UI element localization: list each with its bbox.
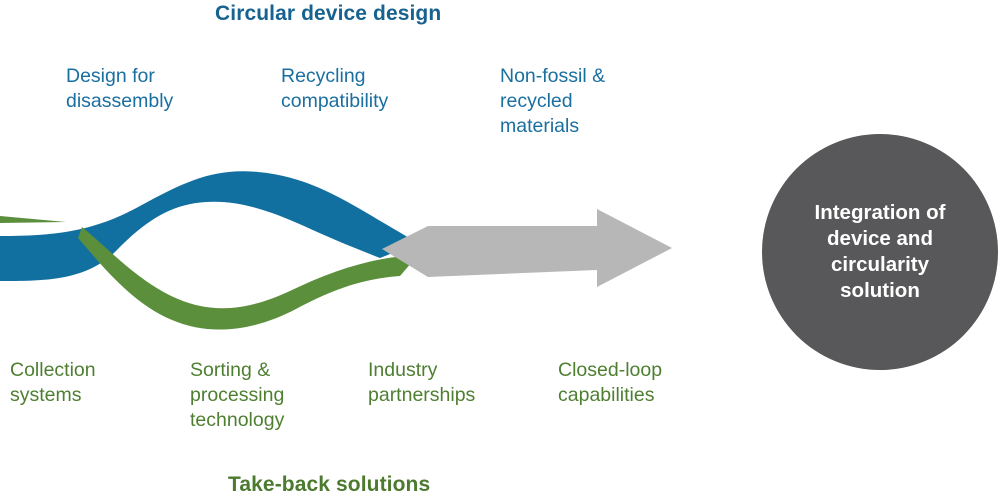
blue-stream-ribbon [0,171,418,281]
label-closed-loop-capabilities: Closed-loop capabilities [558,358,733,408]
label-non-fossil-recycled-materials: Non-fossil & recycled materials [500,64,655,139]
label-industry-partnerships: Industry partnerships [368,358,543,408]
page-title-bottom: Take-back solutions [228,473,430,497]
label-collection-systems: Collection systems [10,358,175,408]
convergence-arrow [382,209,672,287]
label-recycling-compatibility: Recycling compatibility [281,64,461,114]
outcome-circle-label: Integration of device and circularity so… [790,200,970,304]
label-sorting-processing-technology: Sorting & processing technology [190,358,350,433]
label-design-for-disassembly: Design for disassembly [66,64,226,114]
green-stream-wedge [0,216,66,223]
outcome-circle: Integration of device and circularity so… [762,134,998,370]
diagram-canvas: Circular device design Take-back solutio… [0,0,1000,500]
page-title-top: Circular device design [215,2,441,26]
